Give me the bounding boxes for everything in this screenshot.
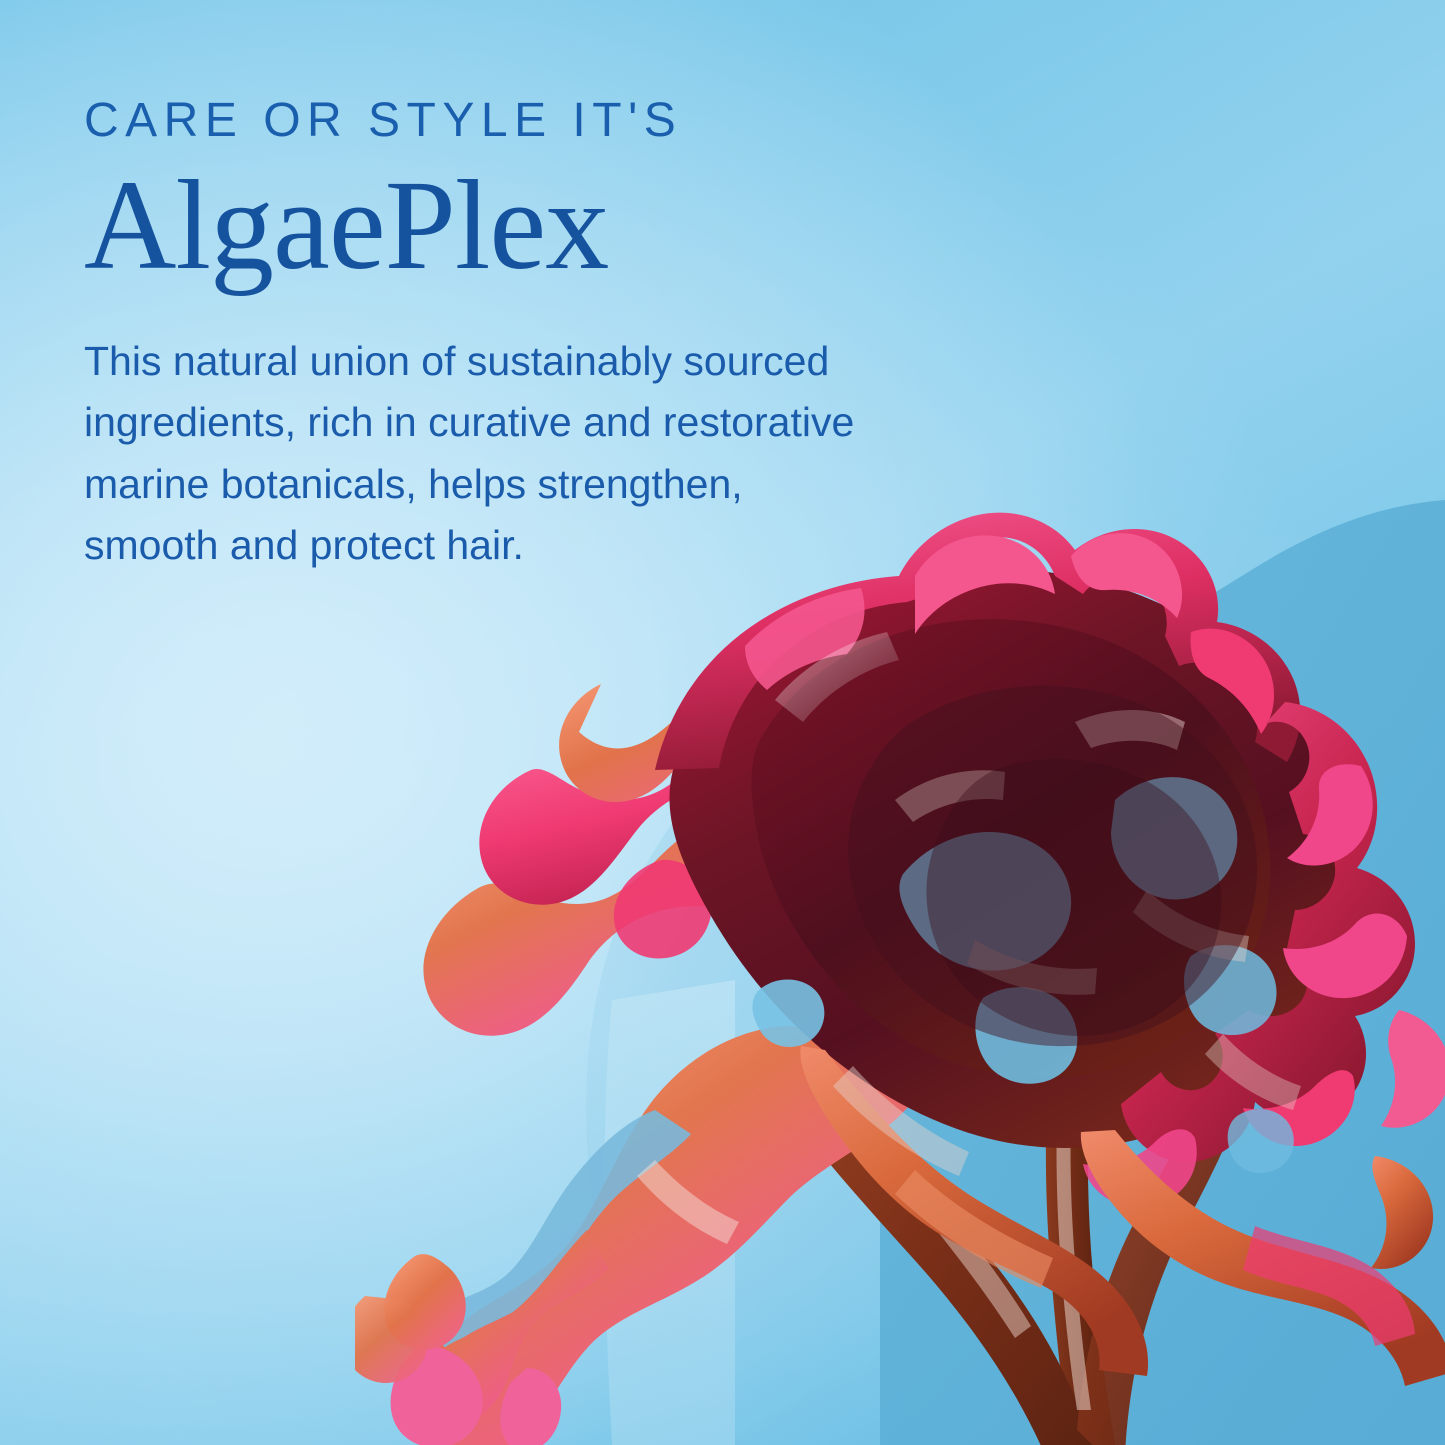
eyebrow-text: CARE OR STYLE IT'S xyxy=(84,96,1064,146)
algaeplex-poster: CARE OR STYLE IT'S AlgaePlex This natura… xyxy=(0,0,1445,1445)
seaweed-illustration xyxy=(355,470,1445,1445)
body-line: ingredients, rich in curative and restor… xyxy=(84,392,1014,454)
body-line: This natural union of sustainably source… xyxy=(84,331,1014,393)
brand-title: AlgaePlex xyxy=(84,160,1064,291)
red-algae-graphic xyxy=(355,470,1445,1445)
